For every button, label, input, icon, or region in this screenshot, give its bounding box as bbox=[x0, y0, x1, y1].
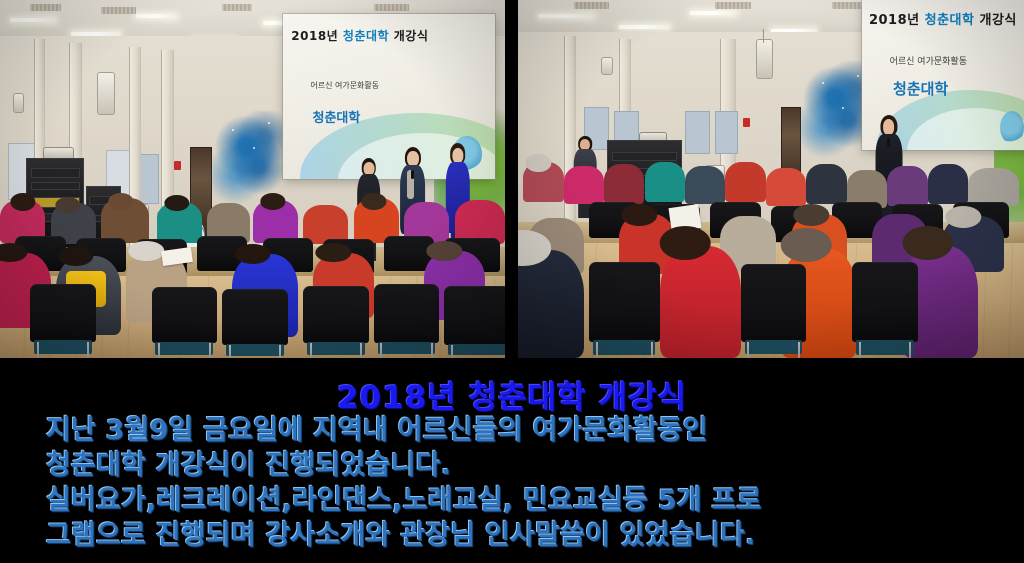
chair-seat bbox=[593, 340, 655, 354]
microphone bbox=[411, 170, 414, 179]
photo-left: 2018년 청춘대학 개강식 어르신 여가문화활동 청춘대학 bbox=[0, 0, 505, 358]
wall-panel bbox=[685, 111, 710, 154]
screen-headline: 청춘대학 bbox=[893, 78, 948, 99]
chair bbox=[741, 264, 807, 342]
ceiling-vent bbox=[101, 7, 136, 14]
chair bbox=[30, 284, 96, 342]
caption-body: 지난 3월9일 금요일에 지역내 어르신들의 여가문화활동인 청춘대학 개강식이… bbox=[46, 413, 986, 553]
ceiling-vent bbox=[574, 2, 609, 9]
ceiling-vent bbox=[374, 4, 409, 11]
wall-sensor bbox=[601, 57, 612, 75]
attendee-head bbox=[316, 243, 351, 263]
left-scene: 2018년 청춘대학 개강식 어르신 여가문화활동 청춘대학 bbox=[0, 0, 505, 358]
ceiling-light bbox=[690, 11, 736, 15]
ceiling-vent bbox=[30, 4, 60, 11]
chair-leg bbox=[380, 343, 382, 358]
screen-title-tail: 개강식 bbox=[394, 29, 429, 43]
chair-leg bbox=[451, 345, 453, 358]
photo-right: 2018년 청춘대학 개강식 어르신 여가문화활동 청춘대학 bbox=[518, 0, 1024, 358]
chair-seat bbox=[448, 344, 505, 356]
chair bbox=[589, 262, 660, 342]
ceiling-light bbox=[10, 18, 55, 22]
wall-mural-blue bbox=[212, 111, 293, 204]
screen-subtitle: 어르신 여가문화활동 bbox=[890, 54, 967, 67]
attendee bbox=[604, 164, 644, 204]
chair-leg bbox=[37, 342, 39, 358]
screen-headline: 청춘대학 bbox=[312, 107, 360, 126]
exit-sign bbox=[174, 161, 181, 170]
attendee bbox=[645, 162, 685, 202]
chair-leg bbox=[209, 343, 211, 358]
chair bbox=[852, 262, 918, 342]
presenter-head bbox=[407, 151, 419, 166]
audience-area bbox=[518, 158, 1024, 358]
chair-seat bbox=[226, 344, 284, 356]
photo-strip: 2018년 청춘대학 개강식 어르신 여가문화활동 청춘대학 bbox=[0, 0, 1024, 358]
presenter-head bbox=[452, 148, 463, 163]
attendee-head bbox=[781, 228, 832, 262]
chair-seat bbox=[745, 340, 803, 354]
wall-speaker bbox=[97, 72, 115, 115]
mural-dot bbox=[268, 122, 270, 124]
chair-leg bbox=[360, 343, 362, 358]
wall-panel bbox=[715, 111, 738, 154]
chair-leg bbox=[279, 345, 281, 358]
microphone bbox=[887, 138, 890, 147]
chair-seat bbox=[378, 342, 436, 354]
attendee-head bbox=[427, 241, 462, 261]
screen-logo bbox=[1000, 111, 1024, 144]
chair bbox=[374, 284, 440, 343]
ceiling-light bbox=[538, 14, 594, 18]
attendee bbox=[806, 164, 846, 204]
screen-title-year: 2018년 bbox=[291, 29, 338, 43]
chair-leg bbox=[909, 342, 911, 358]
chair-leg bbox=[859, 342, 861, 358]
rack-unit bbox=[31, 168, 80, 178]
attendee-head bbox=[129, 241, 164, 261]
attendee bbox=[928, 164, 968, 204]
rack-unit bbox=[31, 182, 80, 190]
attendee-head bbox=[58, 246, 93, 266]
chair-leg bbox=[87, 342, 89, 358]
right-scene: 2018년 청춘대학 개강식 어르신 여가문화활동 청춘대학 bbox=[518, 0, 1024, 358]
chair bbox=[303, 286, 369, 344]
attendee-head bbox=[660, 226, 711, 260]
caption-line: 지난 3월9일 금요일에 지역내 어르신들의 여가문화활동인 bbox=[46, 413, 986, 448]
mural-dot bbox=[253, 147, 255, 149]
attendee-navy-coat bbox=[518, 250, 584, 358]
photo-caption-page: 2018년 청춘대학 개강식 어르신 여가문화활동 청춘대학 bbox=[0, 0, 1024, 563]
caption-line: 청춘대학 개강식이 진행되었습니다. bbox=[46, 448, 986, 483]
ceiling-light bbox=[136, 14, 176, 18]
attendee-head bbox=[235, 244, 270, 264]
screen-title: 2018년 청춘대학 개강식 bbox=[869, 9, 1017, 28]
chair-leg bbox=[747, 342, 749, 358]
speaker-cable bbox=[763, 29, 764, 43]
hanging-speaker bbox=[756, 39, 773, 78]
chair-seat bbox=[307, 342, 365, 355]
chair-seat bbox=[155, 342, 213, 355]
attendee bbox=[725, 162, 765, 202]
chair-seat bbox=[856, 340, 914, 354]
screen-title-accent: 청춘대학 bbox=[925, 13, 975, 28]
exit-sign bbox=[743, 118, 750, 127]
audience-area bbox=[0, 193, 505, 358]
attendee bbox=[685, 166, 725, 204]
chair bbox=[222, 289, 288, 345]
wall-sensor bbox=[13, 93, 24, 113]
caption-title: 2018년 청춘대학 개강식 bbox=[0, 372, 1024, 417]
chair-leg bbox=[158, 343, 160, 358]
presenter-head bbox=[883, 119, 895, 135]
screen-subtitle: 어르신 여가문화활동 bbox=[310, 80, 379, 91]
caption-line: 그램으로 진행되며 강사소개와 관장님 인사말씀이 있었습니다. bbox=[46, 518, 986, 553]
ceiling-light bbox=[619, 25, 670, 29]
presenter-head bbox=[363, 162, 374, 175]
screen-title-accent: 청춘대학 bbox=[343, 29, 389, 43]
attendee bbox=[968, 168, 1019, 206]
caption-block: 2018년 청춘대학 개강식 지난 3월9일 금요일에 지역내 어르신들의 여가… bbox=[0, 358, 1024, 563]
handout-paper bbox=[161, 247, 193, 266]
chair-leg bbox=[431, 343, 433, 358]
caption-line: 실버요가,레크레이션,라인댄스,노래교실, 민요교실등 5개 프로 bbox=[46, 483, 986, 518]
chair-leg bbox=[651, 342, 653, 358]
screen-title-tail: 개강식 bbox=[980, 13, 1017, 28]
chair-seat bbox=[34, 340, 92, 354]
attendee bbox=[766, 168, 806, 206]
attendee-head bbox=[903, 226, 954, 260]
attendee bbox=[887, 166, 927, 206]
chair bbox=[152, 287, 218, 343]
ceiling-vent bbox=[715, 2, 750, 9]
attendee bbox=[564, 166, 604, 204]
screen-title: 2018년 청춘대학 개강식 bbox=[291, 27, 428, 44]
ceiling-vent bbox=[222, 4, 252, 11]
attendee-red-coat bbox=[660, 246, 741, 358]
chair-leg bbox=[596, 342, 598, 358]
screen-title-year: 2018년 bbox=[869, 13, 920, 28]
chair-leg bbox=[229, 345, 231, 358]
ceiling-vent bbox=[832, 2, 862, 9]
chair-leg bbox=[798, 342, 800, 358]
chair bbox=[444, 286, 505, 345]
chair-leg bbox=[310, 343, 312, 358]
